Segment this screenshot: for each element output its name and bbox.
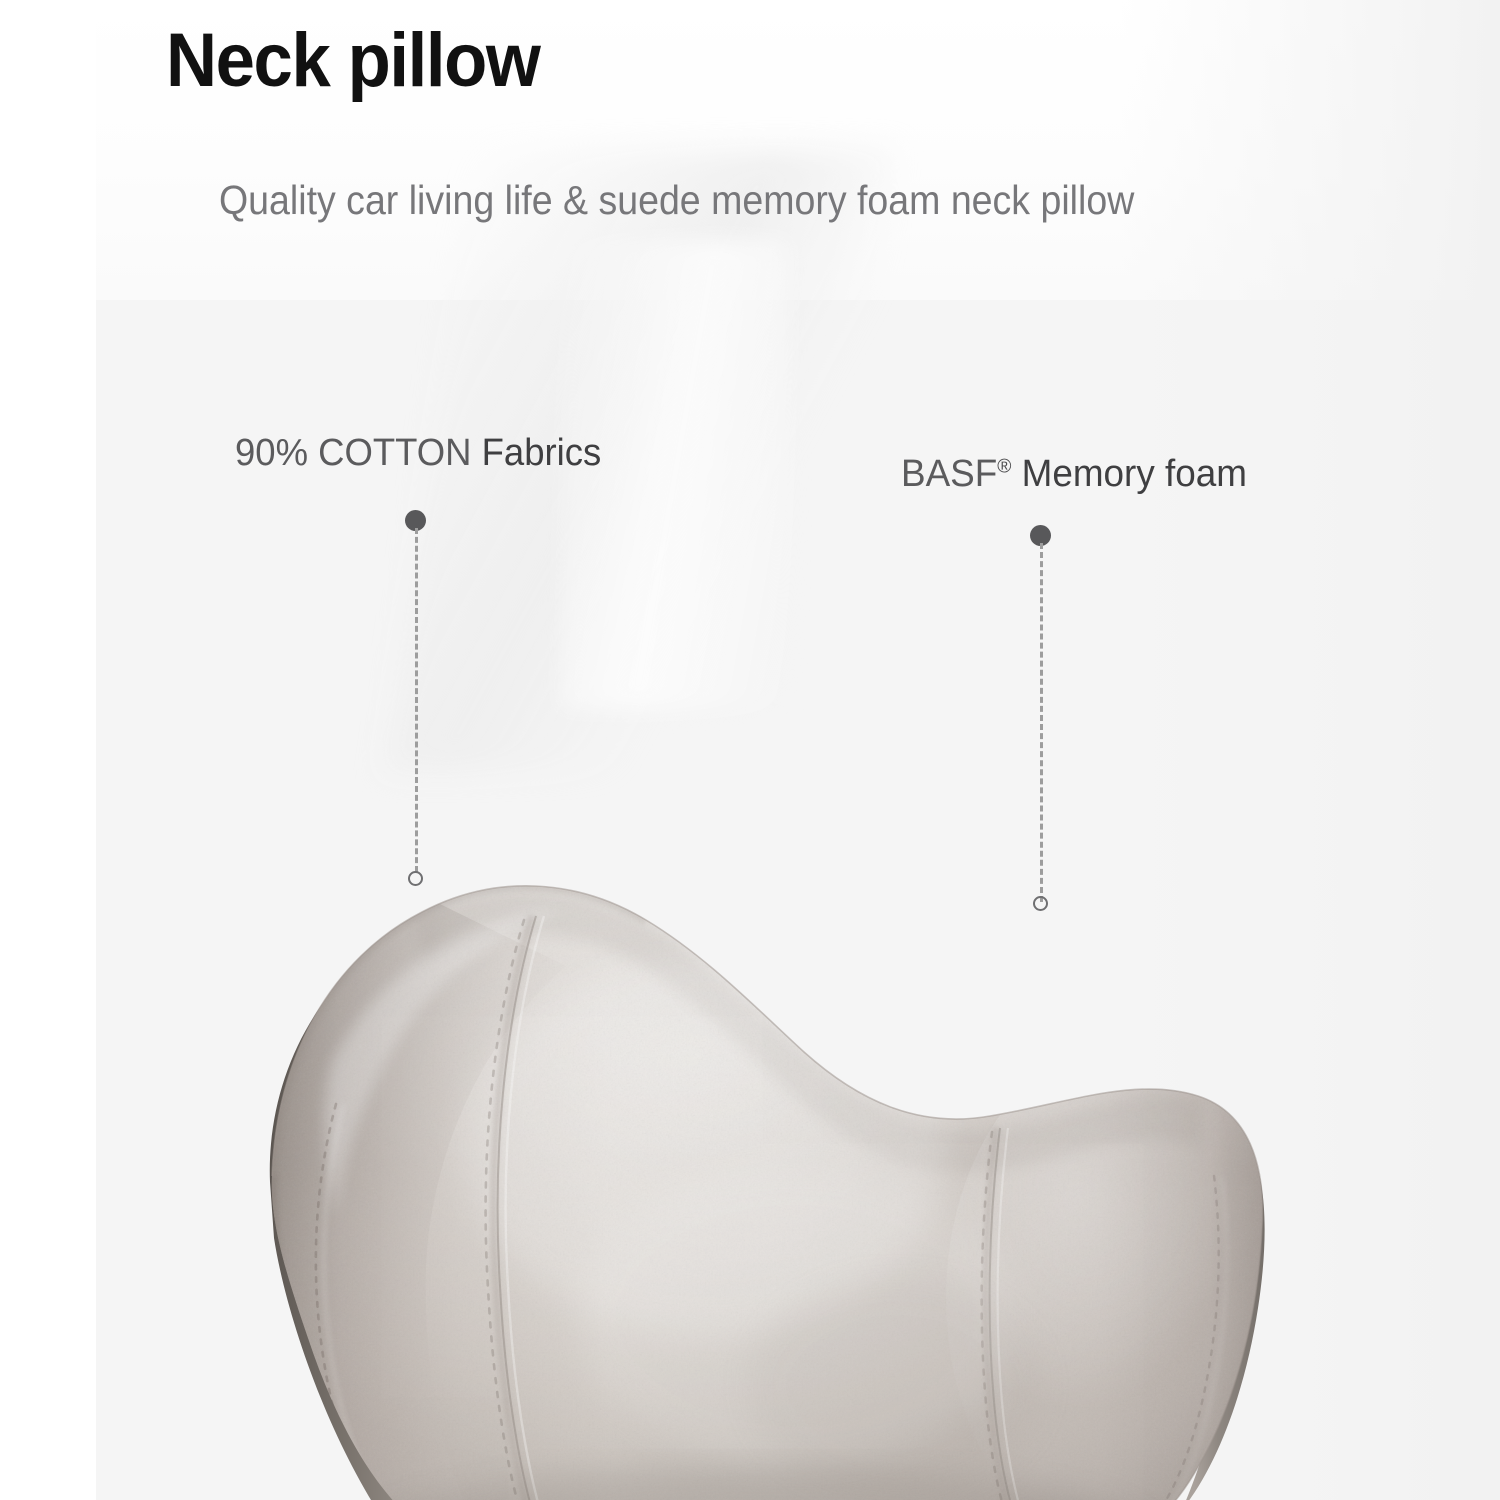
callout-basf-leader-line-icon bbox=[1040, 543, 1043, 902]
page-subtitle: Quality car living life & suede memory f… bbox=[219, 178, 1134, 223]
callout-cotton-prefix: 90% COTTON bbox=[235, 432, 472, 474]
pillow-sheen-patch-b bbox=[746, 1276, 1046, 1496]
background-light-sheen-inner bbox=[560, 240, 790, 710]
page-title: Neck pillow bbox=[166, 21, 540, 101]
product-image-neck-pillow bbox=[236, 846, 1266, 1500]
product-infographic: Neck pillow Quality car living life & su… bbox=[0, 0, 1500, 1500]
background-left-highlight bbox=[0, 0, 96, 1500]
callout-label-basf: BASF® Memory foam bbox=[901, 455, 1247, 493]
pillow-body bbox=[236, 846, 1326, 1500]
callout-label-cotton: 90% COTTON Fabrics bbox=[235, 434, 601, 472]
callout-basf-suffix: Memory foam bbox=[1022, 453, 1247, 495]
callout-cotton-leader-line-icon bbox=[415, 528, 418, 872]
callout-cotton-marker-ring-icon bbox=[408, 871, 423, 886]
callout-basf-marker-ring-icon bbox=[1033, 896, 1048, 911]
callout-basf-trademark: ® bbox=[997, 455, 1011, 477]
callout-cotton-suffix: Fabrics bbox=[482, 432, 602, 474]
callout-basf-prefix: BASF bbox=[901, 453, 997, 495]
